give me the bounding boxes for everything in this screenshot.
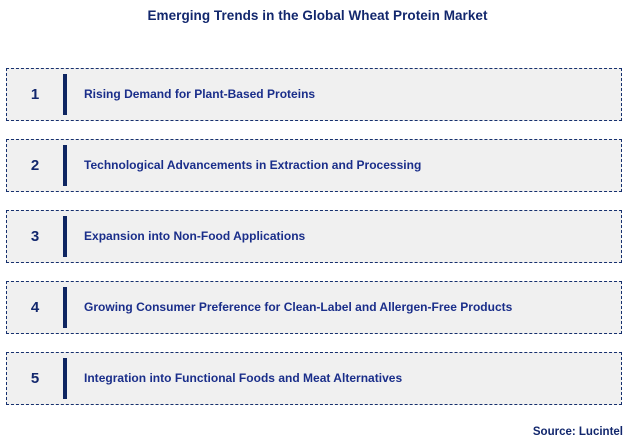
trend-label: Rising Demand for Plant-Based Proteins xyxy=(84,88,315,102)
list-item[interactable]: 4 Growing Consumer Preference for Clean-… xyxy=(6,281,622,334)
trend-number-cell: 4 xyxy=(7,282,63,333)
trend-label-cell: Expansion into Non-Food Applications xyxy=(67,211,621,262)
trend-label: Growing Consumer Preference for Clean-La… xyxy=(84,301,512,315)
page-title: Emerging Trends in the Global Wheat Prot… xyxy=(0,8,635,23)
list-item[interactable]: 3 Expansion into Non-Food Applications xyxy=(6,210,622,263)
trends-infographic: Emerging Trends in the Global Wheat Prot… xyxy=(0,0,635,447)
trend-label: Expansion into Non-Food Applications xyxy=(84,230,305,244)
trend-number-cell: 5 xyxy=(7,353,63,404)
trend-number: 2 xyxy=(31,158,39,173)
trend-label: Integration into Functional Foods and Me… xyxy=(84,372,402,386)
trend-number: 3 xyxy=(31,229,39,244)
list-item[interactable]: 1 Rising Demand for Plant-Based Proteins xyxy=(6,68,622,121)
trend-label-cell: Integration into Functional Foods and Me… xyxy=(67,353,621,404)
trend-label: Technological Advancements in Extraction… xyxy=(84,159,421,173)
trend-number: 4 xyxy=(31,300,39,315)
trend-number-cell: 1 xyxy=(7,69,63,120)
list-item[interactable]: 5 Integration into Functional Foods and … xyxy=(6,352,622,405)
trend-number-cell: 2 xyxy=(7,140,63,191)
trend-number-cell: 3 xyxy=(7,211,63,262)
trend-label-cell: Rising Demand for Plant-Based Proteins xyxy=(67,69,621,120)
trend-label-cell: Technological Advancements in Extraction… xyxy=(67,140,621,191)
trend-number: 1 xyxy=(31,87,39,102)
trend-number: 5 xyxy=(31,371,39,386)
trend-label-cell: Growing Consumer Preference for Clean-La… xyxy=(67,282,621,333)
source-attribution: Source: Lucintel xyxy=(533,426,623,438)
trend-list: 1 Rising Demand for Plant-Based Proteins… xyxy=(6,68,622,405)
list-item[interactable]: 2 Technological Advancements in Extracti… xyxy=(6,139,622,192)
